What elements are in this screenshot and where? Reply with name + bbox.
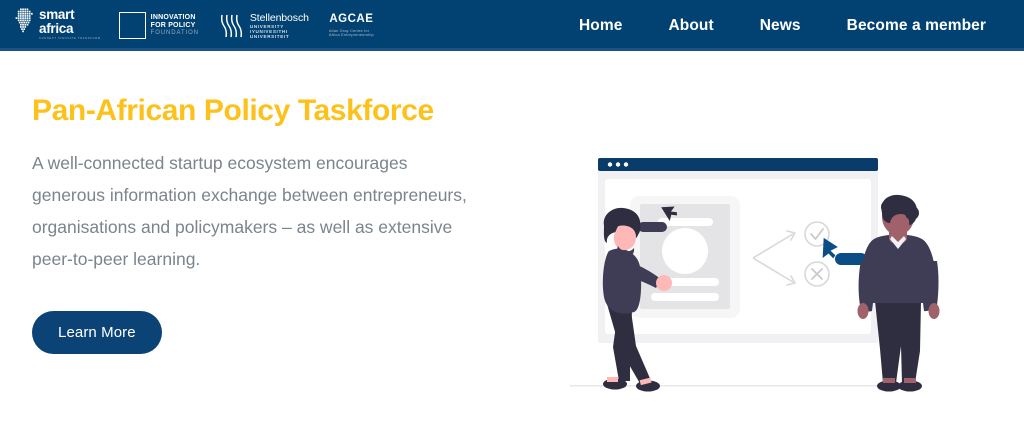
logo-innovation-for-policy[interactable]: INNOVATION FOR POLICY FOUNDATION [109,6,209,46]
africa-map-dots-icon [14,8,36,35]
card-avatar-circle [662,228,708,274]
logo-smart-africa-tagline: CONNECT INNOVATE TRANSFORM [39,38,101,41]
logo-stellenbosch-sub3: UNIVERSITEIT [250,34,309,39]
logo-ifp-line3: FOUNDATION [151,30,199,37]
browser-dot-3 [624,162,628,166]
collaboration-illustration [560,141,1024,406]
hero-section: Pan-African Policy Taskforce A well-conn… [0,51,1024,429]
page-title: Pan-African Policy Taskforce [32,94,520,128]
person-left-hand [656,275,672,291]
logo-stellenbosch-title: Stellenbosch [250,12,309,24]
document-card [630,196,740,318]
nav-link-home[interactable]: Home [579,17,622,35]
logo-smart-africa[interactable]: smart africa CONNECT INNOVATE TRANSFORM [8,6,109,46]
hero-copy: Pan-African Policy Taskforce A well-conn… [0,51,520,429]
card-line-bottom [651,293,719,301]
nav-link-about[interactable]: About [668,17,713,35]
stellenbosch-shield-icon [219,12,245,40]
logo-agcae-title: AGCAE [329,13,373,27]
partner-logo-bar: smart africa CONNECT INNOVATE TRANSFORM … [0,6,384,46]
logo-agcae-sub2: Africa Entrepreneurship [329,33,374,38]
selection-pill-left [638,222,667,232]
logo-smart-africa-line1: smart [39,8,101,22]
hero-description: A well-connected startup ecosystem encou… [32,147,484,275]
logo-agcae[interactable]: AGCAE Allan Gray Centre for Africa Entre… [319,6,384,46]
logo-smart-africa-line2: africa [39,22,101,36]
square-outline-icon [119,12,146,39]
person-left-torso [603,249,641,314]
main-navigation: Home About News Become a member [579,17,1024,35]
browser-dot-2 [616,162,620,166]
logo-stellenbosch[interactable]: Stellenbosch UNIVERSITY IYUNIVESITHI UNI… [209,6,319,46]
site-header: smart africa CONNECT INNOVATE TRANSFORM … [0,0,1024,51]
logo-ifp-line1: INNOVATION [151,14,199,22]
browser-titlebar [598,158,878,171]
browser-dot-1 [608,162,612,166]
person-right-trousers [875,301,921,383]
learn-more-button[interactable]: Learn More [32,311,162,354]
person-right-hand-left [858,303,869,319]
nav-link-become-a-member[interactable]: Become a member [847,17,986,35]
logo-ifp-line2: FOR POLICY [151,22,199,30]
person-right-hand-right [929,303,940,319]
nav-link-news[interactable]: News [760,17,801,35]
